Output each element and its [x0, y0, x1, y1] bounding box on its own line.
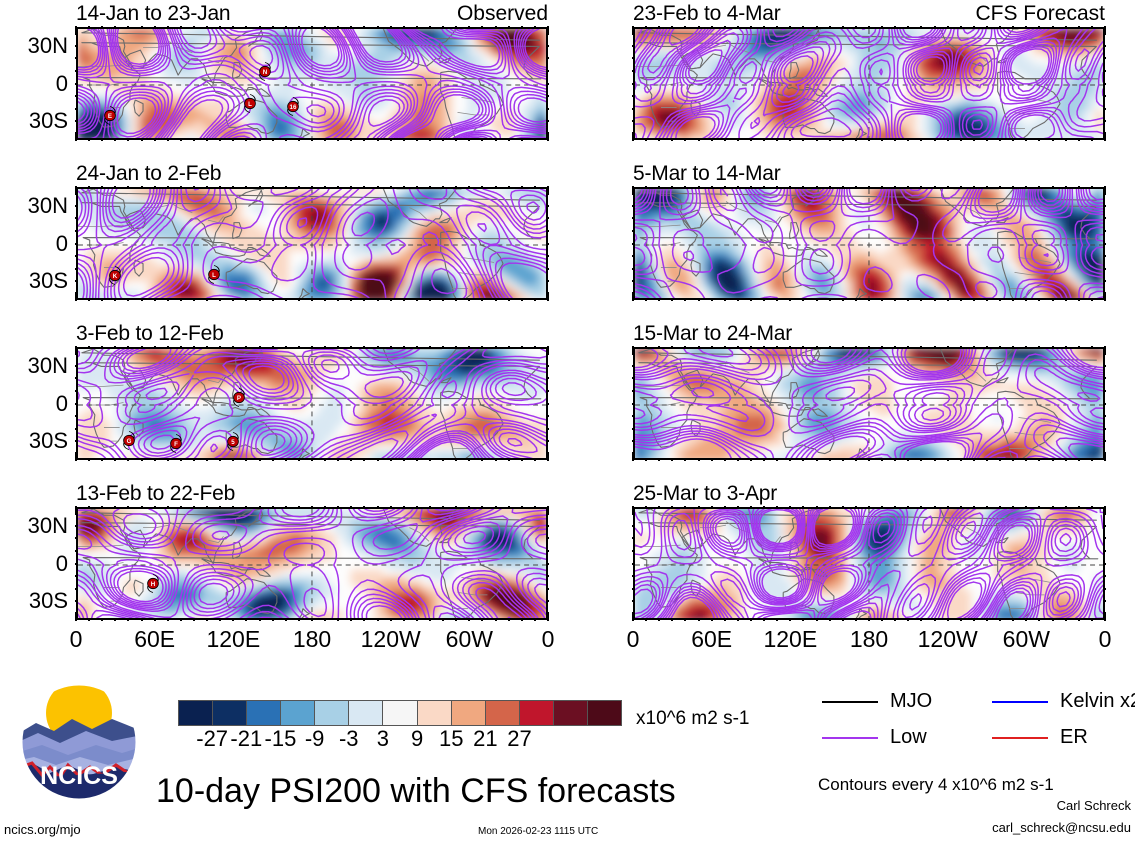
y-axis-labels: 30N030S [6, 507, 76, 620]
y-axis-labels: 30N030S [6, 347, 76, 460]
y-axis-label: 30N [28, 33, 68, 59]
x-axis-label: 120E [763, 626, 817, 653]
colorbar-cell [485, 701, 519, 725]
panel-title: 24-Jan to 2-Feb [76, 162, 221, 186]
tropical-cyclone-marker: L [207, 264, 222, 289]
colorbar-tick-label: -3 [339, 726, 359, 752]
map-frame [633, 27, 1105, 140]
map-canvas [635, 509, 1103, 620]
map-frame [633, 187, 1105, 300]
colorbar-units-label: x10^6 m2 s-1 [636, 708, 749, 730]
tropical-cyclone-marker: P [232, 388, 247, 413]
map-canvas [635, 29, 1103, 140]
colorbar: -27-21-15-9-339152127 x10^6 m2 s-1 [178, 700, 622, 726]
svg-text:L: L [248, 101, 252, 108]
x-axis-label: 60W [446, 626, 493, 653]
panel-title: 23-Feb to 4-Mar [633, 2, 781, 26]
legend-line-swatch [822, 701, 878, 703]
panel-title: 3-Feb to 12-Feb [76, 322, 224, 346]
y-axis-label: 0 [56, 231, 68, 257]
y-axis-labels: 30N030S [6, 27, 76, 140]
colorbar-cell [212, 701, 246, 725]
ncics-logo: NCICS [16, 683, 142, 801]
map-canvas [78, 29, 546, 140]
colorbar-cell [314, 701, 348, 725]
colorbar-cell [553, 701, 587, 725]
colorbar-cell [246, 701, 280, 725]
tropical-cyclone-marker: L [242, 93, 257, 118]
svg-text:L: L [212, 272, 216, 279]
svg-text:E: E [108, 113, 112, 120]
x-axis-label: 0 [1099, 626, 1112, 653]
legend-item: MJO [822, 690, 932, 713]
panel-title: 15-Mar to 24-Mar [633, 322, 792, 346]
map-panel: 5-Mar to 14-Mar [633, 187, 1105, 300]
colorbar-tick-label: -15 [265, 726, 297, 752]
y-axis-label: 30S [29, 268, 68, 294]
svg-text:F: F [174, 441, 178, 448]
map-frame: KL [76, 187, 548, 300]
svg-text:5: 5 [231, 440, 235, 447]
page-title: 10-day PSI200 with CFS forecasts [156, 772, 676, 811]
tropical-cyclone-marker: G [122, 431, 137, 456]
panel-column-header: CFS Forecast [975, 2, 1105, 26]
x-axis-label: 0 [542, 626, 555, 653]
tropical-cyclone-marker: E [103, 106, 118, 131]
legend-line-swatch [992, 737, 1048, 739]
x-axis-labels: 060E120E180120W60W0 [633, 620, 1105, 654]
y-axis-labels: 30N030S [6, 187, 76, 300]
svg-text:G: G [127, 438, 132, 445]
map-frame [633, 347, 1105, 460]
map-frame: GF5P [76, 347, 548, 460]
ncics-logo-text: NCICS [40, 762, 118, 790]
tropical-cyclone-marker: K [107, 266, 122, 291]
svg-text:K: K [112, 273, 117, 280]
panel-title: 14-Jan to 23-Jan [76, 2, 230, 26]
author-name: Carl Schreck [1057, 798, 1131, 813]
colorbar-cell [587, 701, 621, 725]
colorbar-tick-label: -21 [230, 726, 262, 752]
panel-column-header: Observed [457, 2, 548, 26]
map-panel: 15-Mar to 24-Mar [633, 347, 1105, 460]
panel-title: 5-Mar to 14-Mar [633, 162, 781, 186]
panel-title: 13-Feb to 22-Feb [76, 482, 235, 506]
legend-label: MJO [890, 690, 932, 713]
x-axis-label: 120E [206, 626, 260, 653]
legend-item: ER [992, 726, 1088, 749]
y-axis-label: 0 [56, 391, 68, 417]
colorbar-ticks: -27-21-15-9-339152127 [178, 726, 622, 752]
map-panel: 3-Feb to 12-FebGF5P30N030S [76, 347, 548, 460]
svg-text:16: 16 [290, 104, 297, 111]
panel-title: 25-Mar to 3-Apr [633, 482, 777, 506]
y-axis-label: 30N [28, 193, 68, 219]
map-panel: 23-Feb to 4-MarCFS Forecast [633, 27, 1105, 140]
author-email[interactable]: carl_schreck@ncsu.edu [992, 820, 1131, 835]
tropical-cyclone-marker: 5 [225, 432, 240, 457]
colorbar-cell [417, 701, 451, 725]
x-axis-label: 0 [627, 626, 640, 653]
map-canvas [78, 349, 546, 460]
map-panel: 25-Mar to 3-Apr060E120E180120W60W0 [633, 507, 1105, 620]
contour-interval-note: Contours every 4 x10^6 m2 s-1 [818, 775, 1054, 795]
map-frame [633, 507, 1105, 620]
colorbar-tick-label: 9 [411, 726, 423, 752]
y-axis-label: 30S [29, 108, 68, 134]
tropical-cyclone-marker: 16 [286, 97, 301, 122]
x-axis-label: 0 [70, 626, 83, 653]
x-axis-label: 120W [918, 626, 978, 653]
tropical-cyclone-marker: N [258, 62, 273, 87]
tropical-cyclone-marker: F [169, 433, 184, 458]
legend-label: ER [1060, 726, 1088, 749]
colorbar-cell [348, 701, 382, 725]
map-frame: H [76, 507, 548, 620]
x-axis-label: 120W [361, 626, 421, 653]
y-axis-label: 30N [28, 353, 68, 379]
figure-root: 14-Jan to 23-JanObservedELN1630N030S24-J… [0, 0, 1135, 844]
legend-label: Kelvin x2 [1060, 690, 1135, 713]
colorbar-tick-label: 15 [439, 726, 463, 752]
colorbar-strip [178, 700, 622, 726]
map-canvas [78, 509, 546, 620]
colorbar-cell [519, 701, 553, 725]
colorbar-tick-label: -27 [196, 726, 228, 752]
map-panel: 13-Feb to 22-FebH30N030S060E120E180120W6… [76, 507, 548, 620]
x-axis-label: 180 [293, 626, 331, 653]
colorbar-tick-label: 3 [377, 726, 389, 752]
y-axis-label: 30S [29, 588, 68, 614]
tropical-cyclone-marker: H [145, 573, 160, 598]
map-canvas [78, 189, 546, 300]
y-axis-label: 30N [28, 513, 68, 539]
svg-text:P: P [237, 396, 241, 403]
legend-item: Kelvin x2 [992, 690, 1135, 713]
y-axis-label: 0 [56, 71, 68, 97]
legend-line-swatch [822, 737, 878, 739]
ncics-logo-graphic: NCICS [16, 683, 142, 801]
timestamp: Mon 2026-02-23 1115 UTC [478, 826, 598, 837]
y-axis-label: 30S [29, 428, 68, 454]
map-frame: ELN16 [76, 27, 548, 140]
colorbar-cell [179, 701, 212, 725]
x-axis-label: 60W [1003, 626, 1050, 653]
colorbar-tick-label: 27 [507, 726, 531, 752]
colorbar-cell [451, 701, 485, 725]
x-axis-label: 60E [691, 626, 732, 653]
site-url[interactable]: ncics.org/mjo [4, 822, 81, 837]
map-panel: 14-Jan to 23-JanObservedELN1630N030S [76, 27, 548, 140]
legend-line-swatch [992, 701, 1048, 703]
colorbar-tick-label: 21 [473, 726, 497, 752]
x-axis-label: 180 [850, 626, 888, 653]
x-axis-labels: 060E120E180120W60W0 [76, 620, 548, 654]
x-axis-label: 60E [134, 626, 175, 653]
map-panel: 24-Jan to 2-FebKL30N030S [76, 187, 548, 300]
legend-label: Low [890, 726, 927, 749]
colorbar-cell [382, 701, 416, 725]
map-canvas [635, 189, 1103, 300]
legend-item: Low [822, 726, 927, 749]
y-axis-label: 0 [56, 551, 68, 577]
colorbar-tick-label: -9 [305, 726, 325, 752]
contour-legend: MJOKelvin x2LowER [822, 690, 1122, 760]
colorbar-cell [280, 701, 314, 725]
map-canvas [635, 349, 1103, 460]
svg-text:N: N [263, 69, 268, 76]
